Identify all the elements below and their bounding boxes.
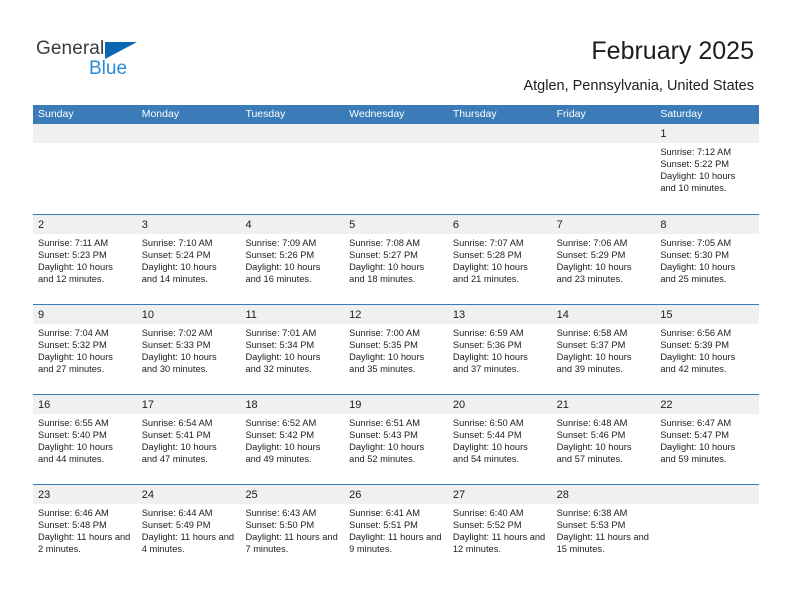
sunrise-text: Sunrise: 7:07 AM [453,237,546,249]
day-details: Sunrise: 6:41 AMSunset: 5:51 PMDaylight:… [344,504,448,555]
day-number-band: 6 [448,215,552,234]
day-details: Sunrise: 6:44 AMSunset: 5:49 PMDaylight:… [137,504,241,555]
calendar-day-cell-empty [137,124,241,214]
daylight-text: Daylight: 10 hours and 32 minutes. [245,351,338,375]
sunset-text: Sunset: 5:44 PM [453,429,546,441]
sunrise-text: Sunrise: 6:46 AM [38,507,131,519]
calendar-week-row: 23Sunrise: 6:46 AMSunset: 5:48 PMDayligh… [33,484,759,574]
day-number: 1 [660,128,666,140]
daylight-text: Daylight: 10 hours and 54 minutes. [453,441,546,465]
weekday-header-friday: Friday [552,105,656,124]
daylight-text: Daylight: 10 hours and 59 minutes. [660,441,753,465]
day-details: Sunrise: 6:48 AMSunset: 5:46 PMDaylight:… [552,414,656,465]
calendar-day-cell[interactable]: 13Sunrise: 6:59 AMSunset: 5:36 PMDayligh… [448,305,552,394]
calendar-day-cell[interactable]: 22Sunrise: 6:47 AMSunset: 5:47 PMDayligh… [655,395,759,484]
sunset-text: Sunset: 5:33 PM [142,339,235,351]
day-number-band: 23 [33,485,137,504]
weekday-header-wednesday: Wednesday [344,105,448,124]
day-number: 25 [245,489,257,501]
day-number-band: 4 [240,215,344,234]
day-number-band: 24 [137,485,241,504]
sunset-text: Sunset: 5:32 PM [38,339,131,351]
day-number-band: 5 [344,215,448,234]
calendar-day-cell[interactable]: 10Sunrise: 7:02 AMSunset: 5:33 PMDayligh… [137,305,241,394]
day-number-band [344,124,448,143]
sunrise-text: Sunrise: 7:01 AM [245,327,338,339]
daylight-text: Daylight: 11 hours and 12 minutes. [453,531,546,555]
day-details: Sunrise: 7:02 AMSunset: 5:33 PMDaylight:… [137,324,241,375]
sunrise-text: Sunrise: 6:40 AM [453,507,546,519]
calendar-week-row: 2Sunrise: 7:11 AMSunset: 5:23 PMDaylight… [33,214,759,304]
calendar-week-row: 16Sunrise: 6:55 AMSunset: 5:40 PMDayligh… [33,394,759,484]
page-masthead: General Blue February 2025 Atglen, Penns… [0,0,792,104]
day-number: 20 [453,399,465,411]
day-number-band: 11 [240,305,344,324]
calendar-day-cell[interactable]: 14Sunrise: 6:58 AMSunset: 5:37 PMDayligh… [552,305,656,394]
day-details: Sunrise: 7:06 AMSunset: 5:29 PMDaylight:… [552,234,656,285]
day-details: Sunrise: 7:09 AMSunset: 5:26 PMDaylight:… [240,234,344,285]
calendar-day-cell[interactable]: 2Sunrise: 7:11 AMSunset: 5:23 PMDaylight… [33,215,137,304]
logo-text-blue: Blue [89,58,127,80]
daylight-text: Daylight: 10 hours and 39 minutes. [557,351,650,375]
day-number: 14 [557,309,569,321]
calendar-day-cell[interactable]: 23Sunrise: 6:46 AMSunset: 5:48 PMDayligh… [33,485,137,574]
calendar-day-cell[interactable]: 27Sunrise: 6:40 AMSunset: 5:52 PMDayligh… [448,485,552,574]
page-subtitle-location: Atglen, Pennsylvania, United States [523,78,754,94]
sunrise-text: Sunrise: 7:11 AM [38,237,131,249]
calendar-day-cell[interactable]: 20Sunrise: 6:50 AMSunset: 5:44 PMDayligh… [448,395,552,484]
sunrise-text: Sunrise: 6:47 AM [660,417,753,429]
sunrise-text: Sunrise: 6:58 AM [557,327,650,339]
calendar-day-cell-empty [33,124,137,214]
sunrise-text: Sunrise: 7:08 AM [349,237,442,249]
calendar-day-cell[interactable]: 21Sunrise: 6:48 AMSunset: 5:46 PMDayligh… [552,395,656,484]
day-number-band: 28 [552,485,656,504]
day-number-band: 7 [552,215,656,234]
sunset-text: Sunset: 5:48 PM [38,519,131,531]
day-number-band: 1 [655,124,759,143]
day-details: Sunrise: 6:59 AMSunset: 5:36 PMDaylight:… [448,324,552,375]
day-number-band: 12 [344,305,448,324]
day-details: Sunrise: 7:07 AMSunset: 5:28 PMDaylight:… [448,234,552,285]
sunset-text: Sunset: 5:42 PM [245,429,338,441]
day-number: 23 [38,489,50,501]
day-number-band [448,124,552,143]
day-details: Sunrise: 6:58 AMSunset: 5:37 PMDaylight:… [552,324,656,375]
sunrise-text: Sunrise: 6:56 AM [660,327,753,339]
day-number: 24 [142,489,154,501]
weekday-header-saturday: Saturday [655,105,759,124]
sunset-text: Sunset: 5:40 PM [38,429,131,441]
sunrise-text: Sunrise: 6:59 AM [453,327,546,339]
sunrise-text: Sunrise: 6:51 AM [349,417,442,429]
daylight-text: Daylight: 10 hours and 37 minutes. [453,351,546,375]
page-title: February 2025 [591,37,754,66]
day-number-band: 26 [344,485,448,504]
sunrise-text: Sunrise: 6:52 AM [245,417,338,429]
sunrise-text: Sunrise: 7:06 AM [557,237,650,249]
day-details: Sunrise: 6:43 AMSunset: 5:50 PMDaylight:… [240,504,344,555]
sunrise-text: Sunrise: 6:44 AM [142,507,235,519]
daylight-text: Daylight: 10 hours and 47 minutes. [142,441,235,465]
daylight-text: Daylight: 10 hours and 14 minutes. [142,261,235,285]
day-number-band: 13 [448,305,552,324]
sunrise-text: Sunrise: 7:04 AM [38,327,131,339]
daylight-text: Daylight: 10 hours and 10 minutes. [660,170,753,194]
daylight-text: Daylight: 10 hours and 30 minutes. [142,351,235,375]
day-number-band: 27 [448,485,552,504]
calendar-week-row: 1Sunrise: 7:12 AMSunset: 5:22 PMDaylight… [33,124,759,214]
calendar-day-cell[interactable]: 1Sunrise: 7:12 AMSunset: 5:22 PMDaylight… [655,124,759,214]
day-details: Sunrise: 7:05 AMSunset: 5:30 PMDaylight:… [655,234,759,285]
day-number: 26 [349,489,361,501]
day-number: 12 [349,309,361,321]
day-details: Sunrise: 7:00 AMSunset: 5:35 PMDaylight:… [344,324,448,375]
calendar-day-cell[interactable]: 8Sunrise: 7:05 AMSunset: 5:30 PMDaylight… [655,215,759,304]
sunset-text: Sunset: 5:26 PM [245,249,338,261]
day-details: Sunrise: 7:11 AMSunset: 5:23 PMDaylight:… [33,234,137,285]
day-number-band: 10 [137,305,241,324]
calendar-day-cell[interactable]: 12Sunrise: 7:00 AMSunset: 5:35 PMDayligh… [344,305,448,394]
sunrise-text: Sunrise: 6:54 AM [142,417,235,429]
sunset-text: Sunset: 5:39 PM [660,339,753,351]
calendar-day-cell[interactable]: 7Sunrise: 7:06 AMSunset: 5:29 PMDaylight… [552,215,656,304]
day-number: 28 [557,489,569,501]
day-number: 7 [557,219,563,231]
calendar-day-cell[interactable]: 5Sunrise: 7:08 AMSunset: 5:27 PMDaylight… [344,215,448,304]
sunset-text: Sunset: 5:37 PM [557,339,650,351]
daylight-text: Daylight: 10 hours and 12 minutes. [38,261,131,285]
sunset-text: Sunset: 5:50 PM [245,519,338,531]
daylight-text: Daylight: 10 hours and 49 minutes. [245,441,338,465]
weekday-header-thursday: Thursday [448,105,552,124]
weekday-header-row: Sunday Monday Tuesday Wednesday Thursday… [33,105,759,124]
day-number-band [655,485,759,504]
calendar-day-cell[interactable]: 25Sunrise: 6:43 AMSunset: 5:50 PMDayligh… [240,485,344,574]
sunrise-text: Sunrise: 6:48 AM [557,417,650,429]
calendar-day-cell-empty [552,124,656,214]
day-number-band: 14 [552,305,656,324]
day-number-band: 21 [552,395,656,414]
day-number-band: 20 [448,395,552,414]
day-number: 22 [660,399,672,411]
weekday-header-sunday: Sunday [33,105,137,124]
sunrise-text: Sunrise: 7:02 AM [142,327,235,339]
calendar-day-cell[interactable]: 9Sunrise: 7:04 AMSunset: 5:32 PMDaylight… [33,305,137,394]
sunrise-text: Sunrise: 7:05 AM [660,237,753,249]
day-number: 27 [453,489,465,501]
calendar-day-cell[interactable]: 4Sunrise: 7:09 AMSunset: 5:26 PMDaylight… [240,215,344,304]
sunset-text: Sunset: 5:23 PM [38,249,131,261]
day-details: Sunrise: 6:50 AMSunset: 5:44 PMDaylight:… [448,414,552,465]
logo-triangle-icon [105,42,137,59]
calendar-day-cell[interactable]: 11Sunrise: 7:01 AMSunset: 5:34 PMDayligh… [240,305,344,394]
day-number: 15 [660,309,672,321]
calendar-day-cell[interactable]: 26Sunrise: 6:41 AMSunset: 5:51 PMDayligh… [344,485,448,574]
day-number: 21 [557,399,569,411]
day-details: Sunrise: 6:52 AMSunset: 5:42 PMDaylight:… [240,414,344,465]
day-details: Sunrise: 6:55 AMSunset: 5:40 PMDaylight:… [33,414,137,465]
calendar-day-cell[interactable]: 28Sunrise: 6:38 AMSunset: 5:53 PMDayligh… [552,485,656,574]
daylight-text: Daylight: 10 hours and 27 minutes. [38,351,131,375]
day-number: 17 [142,399,154,411]
daylight-text: Daylight: 10 hours and 52 minutes. [349,441,442,465]
day-number: 3 [142,219,148,231]
calendar-day-cell[interactable]: 16Sunrise: 6:55 AMSunset: 5:40 PMDayligh… [33,395,137,484]
calendar-day-cell-empty [344,124,448,214]
day-number-band: 19 [344,395,448,414]
day-number: 2 [38,219,44,231]
sunset-text: Sunset: 5:35 PM [349,339,442,351]
day-number: 8 [660,219,666,231]
daylight-text: Daylight: 11 hours and 2 minutes. [38,531,131,555]
calendar-page: General Blue February 2025 Atglen, Penns… [0,0,792,612]
sunset-text: Sunset: 5:24 PM [142,249,235,261]
sunrise-text: Sunrise: 7:12 AM [660,146,753,158]
logo-text-general: General [36,38,104,60]
general-blue-logo[interactable]: General Blue [36,38,196,84]
day-number: 6 [453,219,459,231]
sunrise-text: Sunrise: 7:00 AM [349,327,442,339]
sunset-text: Sunset: 5:30 PM [660,249,753,261]
sunrise-text: Sunrise: 6:50 AM [453,417,546,429]
daylight-text: Daylight: 10 hours and 44 minutes. [38,441,131,465]
day-details: Sunrise: 6:54 AMSunset: 5:41 PMDaylight:… [137,414,241,465]
daylight-text: Daylight: 10 hours and 35 minutes. [349,351,442,375]
day-number: 18 [245,399,257,411]
sunset-text: Sunset: 5:29 PM [557,249,650,261]
calendar-day-cell-empty [655,485,759,574]
calendar-day-cell-empty [448,124,552,214]
day-number-band [240,124,344,143]
weekday-header-monday: Monday [137,105,241,124]
day-number-band [552,124,656,143]
sunset-text: Sunset: 5:43 PM [349,429,442,441]
daylight-text: Daylight: 10 hours and 23 minutes. [557,261,650,285]
sunset-text: Sunset: 5:34 PM [245,339,338,351]
day-details: Sunrise: 6:38 AMSunset: 5:53 PMDaylight:… [552,504,656,555]
day-details: Sunrise: 6:40 AMSunset: 5:52 PMDaylight:… [448,504,552,555]
sunset-text: Sunset: 5:47 PM [660,429,753,441]
calendar-day-cell-empty [240,124,344,214]
day-details: Sunrise: 7:10 AMSunset: 5:24 PMDaylight:… [137,234,241,285]
daylight-text: Daylight: 11 hours and 7 minutes. [245,531,338,555]
daylight-text: Daylight: 10 hours and 18 minutes. [349,261,442,285]
day-number-band [33,124,137,143]
sunset-text: Sunset: 5:52 PM [453,519,546,531]
calendar-day-cell[interactable]: 17Sunrise: 6:54 AMSunset: 5:41 PMDayligh… [137,395,241,484]
daylight-text: Daylight: 10 hours and 16 minutes. [245,261,338,285]
daylight-text: Daylight: 10 hours and 42 minutes. [660,351,753,375]
calendar-week-row: 9Sunrise: 7:04 AMSunset: 5:32 PMDaylight… [33,304,759,394]
daylight-text: Daylight: 11 hours and 4 minutes. [142,531,235,555]
day-number-band: 16 [33,395,137,414]
day-details: Sunrise: 6:47 AMSunset: 5:47 PMDaylight:… [655,414,759,465]
day-number-band: 22 [655,395,759,414]
day-number: 9 [38,309,44,321]
calendar-day-cell[interactable]: 6Sunrise: 7:07 AMSunset: 5:28 PMDaylight… [448,215,552,304]
day-details: Sunrise: 7:04 AMSunset: 5:32 PMDaylight:… [33,324,137,375]
daylight-text: Daylight: 10 hours and 57 minutes. [557,441,650,465]
day-details: Sunrise: 7:08 AMSunset: 5:27 PMDaylight:… [344,234,448,285]
calendar-weeks: 1Sunrise: 7:12 AMSunset: 5:22 PMDaylight… [33,124,759,574]
day-details: Sunrise: 6:56 AMSunset: 5:39 PMDaylight:… [655,324,759,375]
sunset-text: Sunset: 5:41 PM [142,429,235,441]
day-number-band: 9 [33,305,137,324]
daylight-text: Daylight: 11 hours and 9 minutes. [349,531,442,555]
calendar-day-cell[interactable]: 24Sunrise: 6:44 AMSunset: 5:49 PMDayligh… [137,485,241,574]
calendar-day-cell[interactable]: 18Sunrise: 6:52 AMSunset: 5:42 PMDayligh… [240,395,344,484]
day-number-band: 15 [655,305,759,324]
day-number-band: 25 [240,485,344,504]
day-number-band: 8 [655,215,759,234]
day-number: 5 [349,219,355,231]
sunset-text: Sunset: 5:28 PM [453,249,546,261]
day-number-band: 18 [240,395,344,414]
day-number-band: 2 [33,215,137,234]
sunset-text: Sunset: 5:36 PM [453,339,546,351]
sunrise-text: Sunrise: 6:55 AM [38,417,131,429]
day-details: Sunrise: 6:46 AMSunset: 5:48 PMDaylight:… [33,504,137,555]
day-number-band: 17 [137,395,241,414]
sunrise-text: Sunrise: 6:38 AM [557,507,650,519]
sunrise-text: Sunrise: 7:10 AM [142,237,235,249]
sunset-text: Sunset: 5:53 PM [557,519,650,531]
calendar-day-cell[interactable]: 15Sunrise: 6:56 AMSunset: 5:39 PMDayligh… [655,305,759,394]
day-number-band [137,124,241,143]
sunrise-text: Sunrise: 7:09 AM [245,237,338,249]
day-number: 4 [245,219,251,231]
calendar-grid: Sunday Monday Tuesday Wednesday Thursday… [33,105,759,574]
day-number: 11 [245,309,256,321]
calendar-day-cell[interactable]: 19Sunrise: 6:51 AMSunset: 5:43 PMDayligh… [344,395,448,484]
day-number: 10 [142,309,154,321]
day-number: 13 [453,309,465,321]
weekday-header-tuesday: Tuesday [240,105,344,124]
sunset-text: Sunset: 5:51 PM [349,519,442,531]
sunset-text: Sunset: 5:27 PM [349,249,442,261]
sunset-text: Sunset: 5:49 PM [142,519,235,531]
daylight-text: Daylight: 10 hours and 25 minutes. [660,261,753,285]
day-number: 19 [349,399,361,411]
sunset-text: Sunset: 5:46 PM [557,429,650,441]
day-details: Sunrise: 6:51 AMSunset: 5:43 PMDaylight:… [344,414,448,465]
day-number: 16 [38,399,50,411]
day-details: Sunrise: 7:12 AMSunset: 5:22 PMDaylight:… [655,143,759,194]
sunrise-text: Sunrise: 6:41 AM [349,507,442,519]
sunset-text: Sunset: 5:22 PM [660,158,753,170]
daylight-text: Daylight: 10 hours and 21 minutes. [453,261,546,285]
daylight-text: Daylight: 11 hours and 15 minutes. [557,531,650,555]
calendar-day-cell[interactable]: 3Sunrise: 7:10 AMSunset: 5:24 PMDaylight… [137,215,241,304]
day-details: Sunrise: 7:01 AMSunset: 5:34 PMDaylight:… [240,324,344,375]
day-number-band: 3 [137,215,241,234]
sunrise-text: Sunrise: 6:43 AM [245,507,338,519]
